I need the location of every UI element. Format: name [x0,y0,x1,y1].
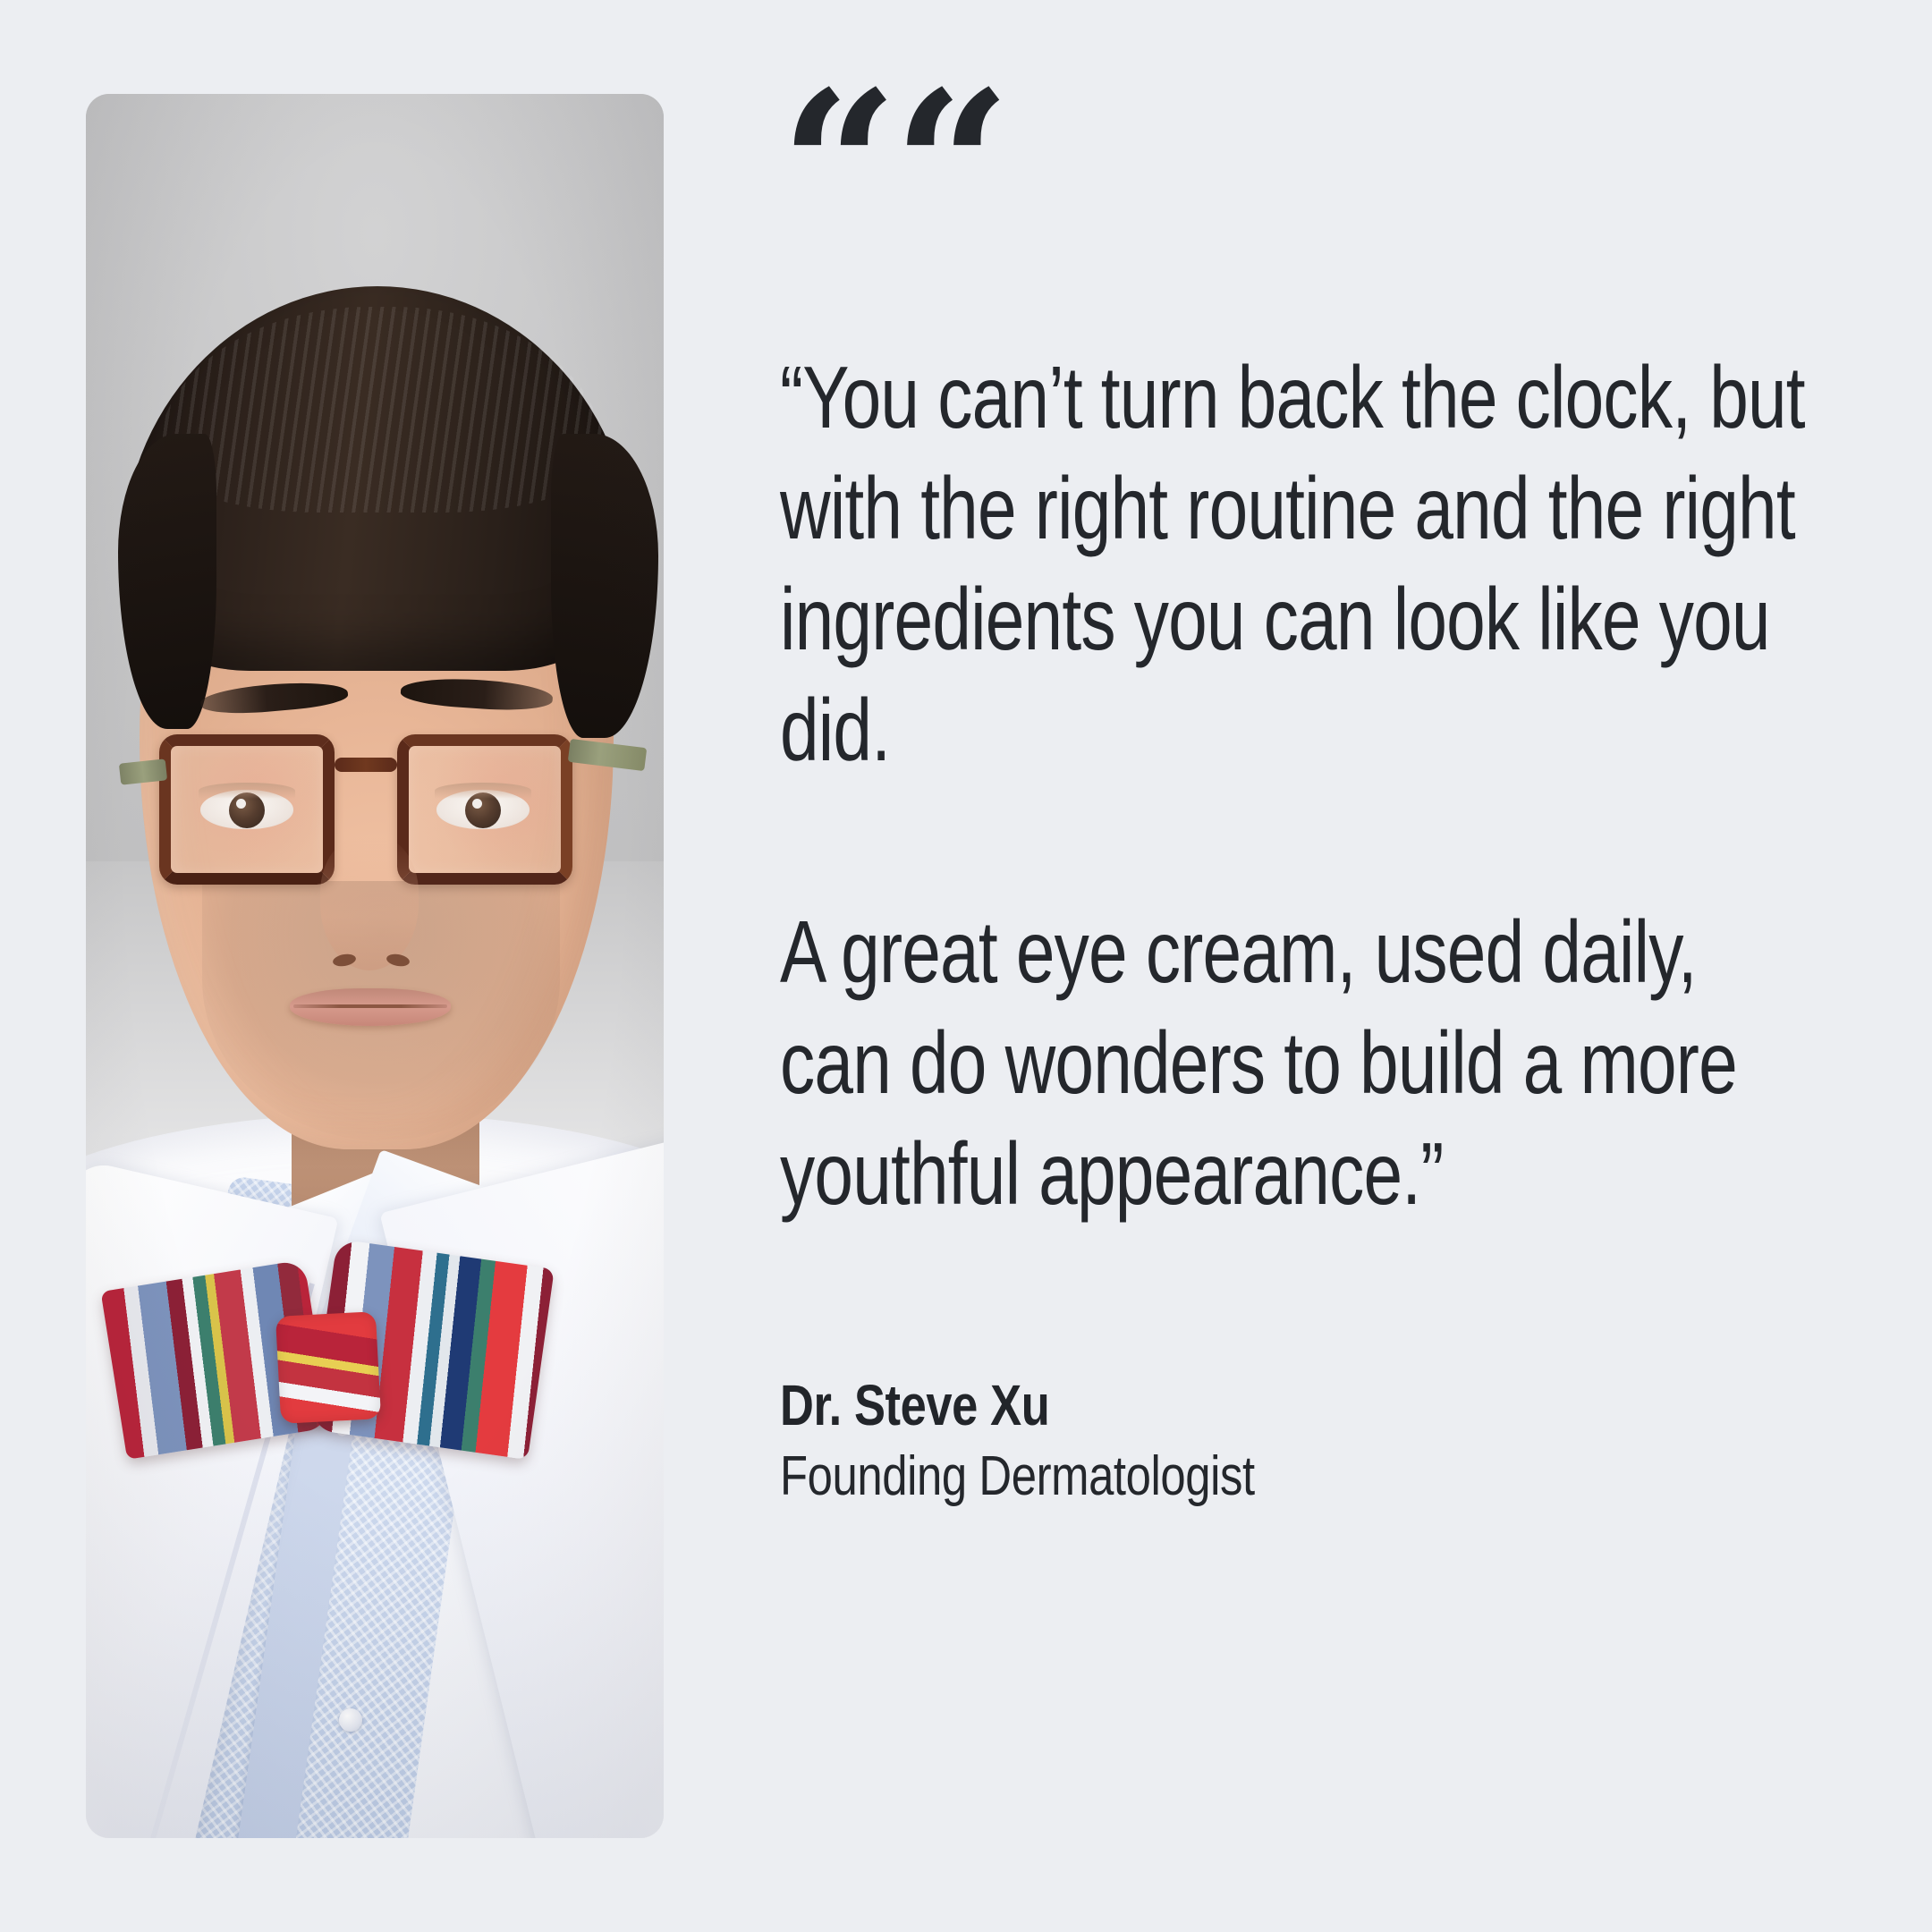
quote-paragraph-1: “You can’t turn back the clock, but with… [780,342,1816,785]
quote-text: “You can’t turn back the clock, but with… [780,342,1816,1229]
eyeglasses-lens-left [159,734,335,885]
eyeglasses-lens-right [397,734,572,885]
portrait-photo [86,94,664,1838]
quote-paragraph-2: A great eye cream, used daily, can do wo… [780,896,1816,1229]
bow-tie [113,1228,542,1496]
open-quote-icon: ““ [780,114,1818,233]
portrait-frame [86,94,664,1838]
attribution-name: Dr. Steve Xu [780,1372,1513,1438]
testimonial-card: ““ “You can’t turn back the clock, but w… [0,0,1932,1932]
nose [320,836,419,970]
mouth-line [293,1004,447,1008]
shirt-button [339,1708,362,1732]
attribution-role: Founding Dermatologist [780,1444,1513,1510]
quote-column: ““ “You can’t turn back the clock, but w… [780,114,1818,1510]
attribution: Dr. Steve Xu Founding Dermatologist [780,1372,1513,1510]
bow-tie-knot [275,1311,381,1424]
eyeglasses-bridge [335,758,397,772]
